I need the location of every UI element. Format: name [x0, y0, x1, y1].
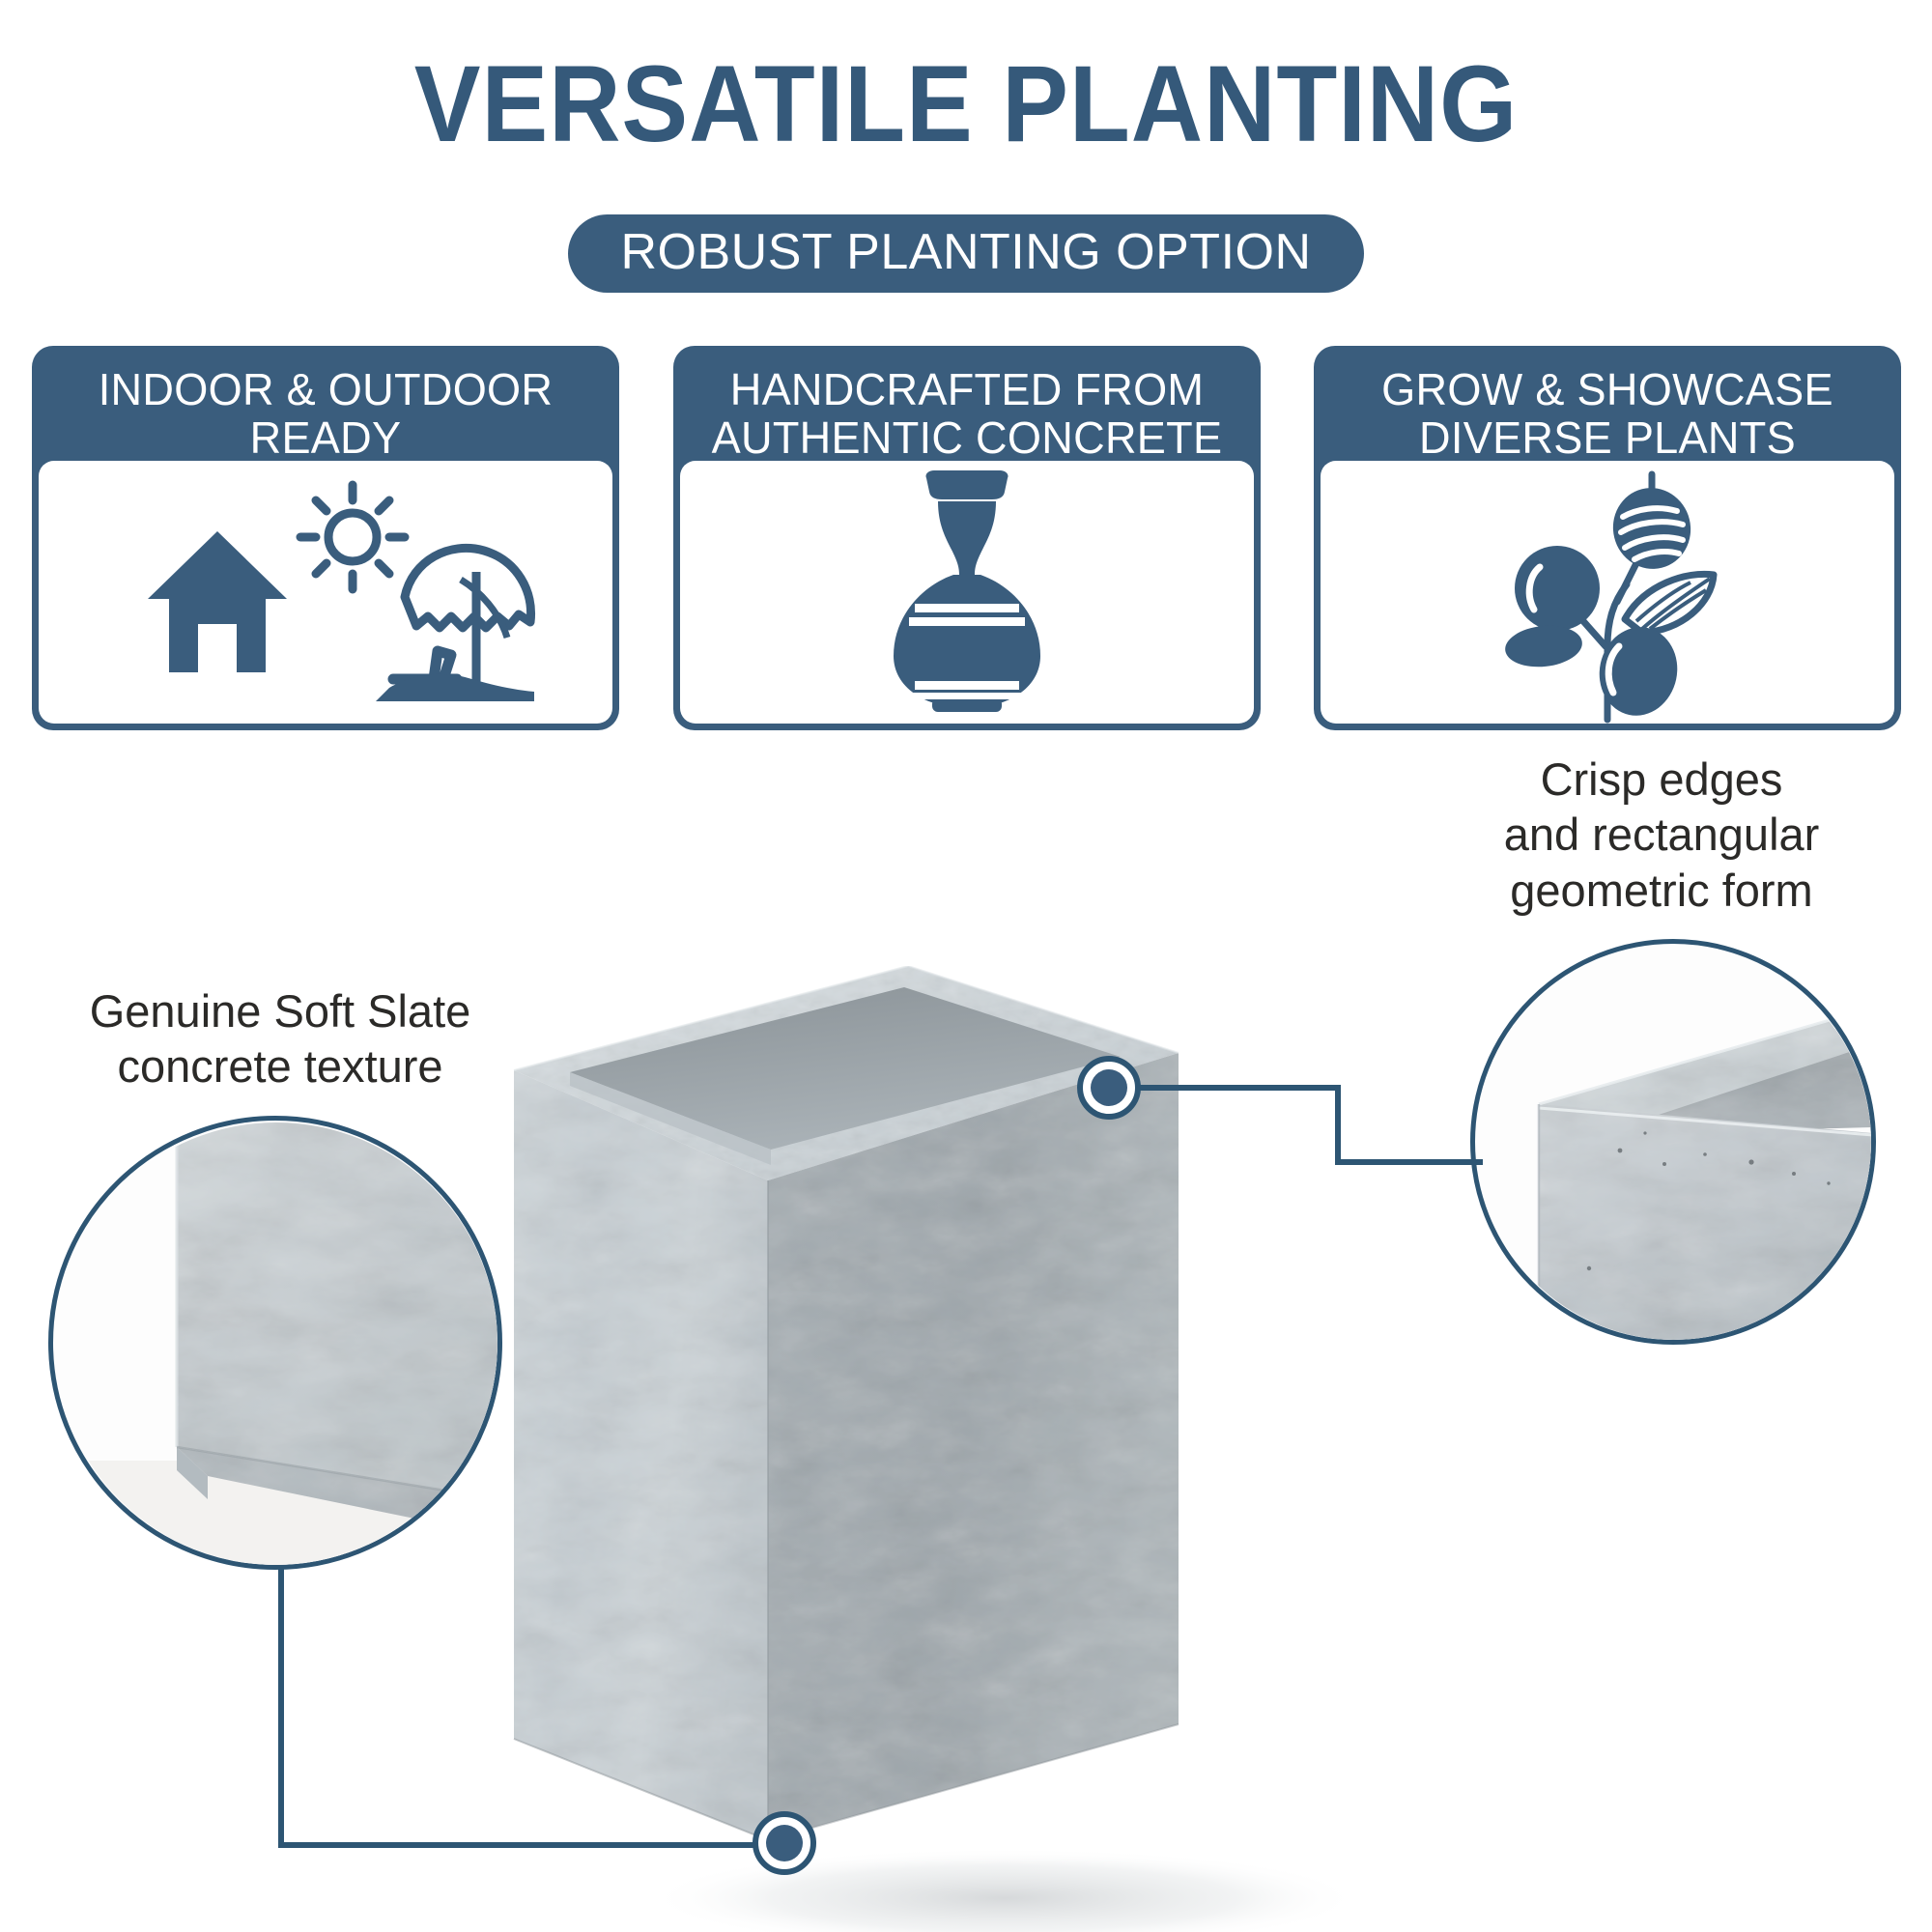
status-badge: ROBUST PLANTING OPTION — [568, 214, 1363, 293]
right-leaf — [1625, 574, 1714, 633]
feature-card-indoor-outdoor: INDOOR & OUTDOOR READY — [32, 346, 619, 730]
feature-card-handcrafted-concrete: HANDCRAFTED FROM AUTHENTIC CONCRETE — [673, 346, 1261, 730]
concrete-texture-closeup — [53, 1121, 499, 1567]
sun-icon — [300, 485, 405, 589]
feature-card-icons — [680, 461, 1254, 724]
callout-line: Genuine Soft Slate — [34, 983, 526, 1038]
detail-circle-concrete-texture — [48, 1116, 502, 1570]
infographic-page: VERSATILE PLANTING ROBUST PLANTING OPTIO… — [0, 0, 1932, 1932]
beach-umbrella-icon — [376, 548, 534, 701]
callout-label-concrete-texture: Genuine Soft Slate concrete texture — [34, 983, 526, 1094]
berry-branch-icon — [1472, 461, 1743, 724]
detail-circle-rim-edge — [1470, 939, 1876, 1345]
house-icon — [148, 531, 287, 672]
feature-card-title: GROW & SHOWCASE DIVERSE PLANTS — [1326, 353, 1889, 461]
feature-card-title: INDOOR & OUTDOOR READY — [44, 353, 607, 461]
feature-card-icons — [1321, 461, 1894, 724]
feature-card-grow-showcase: GROW & SHOWCASE DIVERSE PLANTS — [1314, 346, 1901, 730]
callout-line: and rectangular — [1406, 807, 1918, 862]
callout-label-crisp-edges: Crisp edges and rectangular geometric fo… — [1406, 752, 1918, 918]
indoor-outdoor-icon-group — [113, 471, 538, 713]
product-shadow — [647, 1848, 1362, 1932]
feature-card-icons — [39, 461, 612, 724]
planter-illustration — [502, 966, 1391, 1932]
small-leaf — [1503, 622, 1584, 670]
planter-side-face — [768, 1053, 1179, 1840]
left-berry — [1515, 546, 1600, 631]
planter-front-face — [514, 1070, 768, 1840]
rim-edge-closeup — [1475, 944, 1873, 1342]
callout-line: concrete texture — [34, 1038, 526, 1094]
striped-berry — [1605, 474, 1699, 577]
callout-line: geometric form — [1406, 863, 1918, 918]
page-title: VERSATILE PLANTING — [77, 50, 1855, 158]
badge-container: ROBUST PLANTING OPTION — [0, 214, 1932, 293]
product-image-planter — [502, 966, 1391, 1932]
feature-card-title: HANDCRAFTED FROM AUTHENTIC CONCRETE — [686, 353, 1248, 461]
callout-line: Crisp edges — [1406, 752, 1918, 807]
vase-icon — [861, 467, 1073, 718]
